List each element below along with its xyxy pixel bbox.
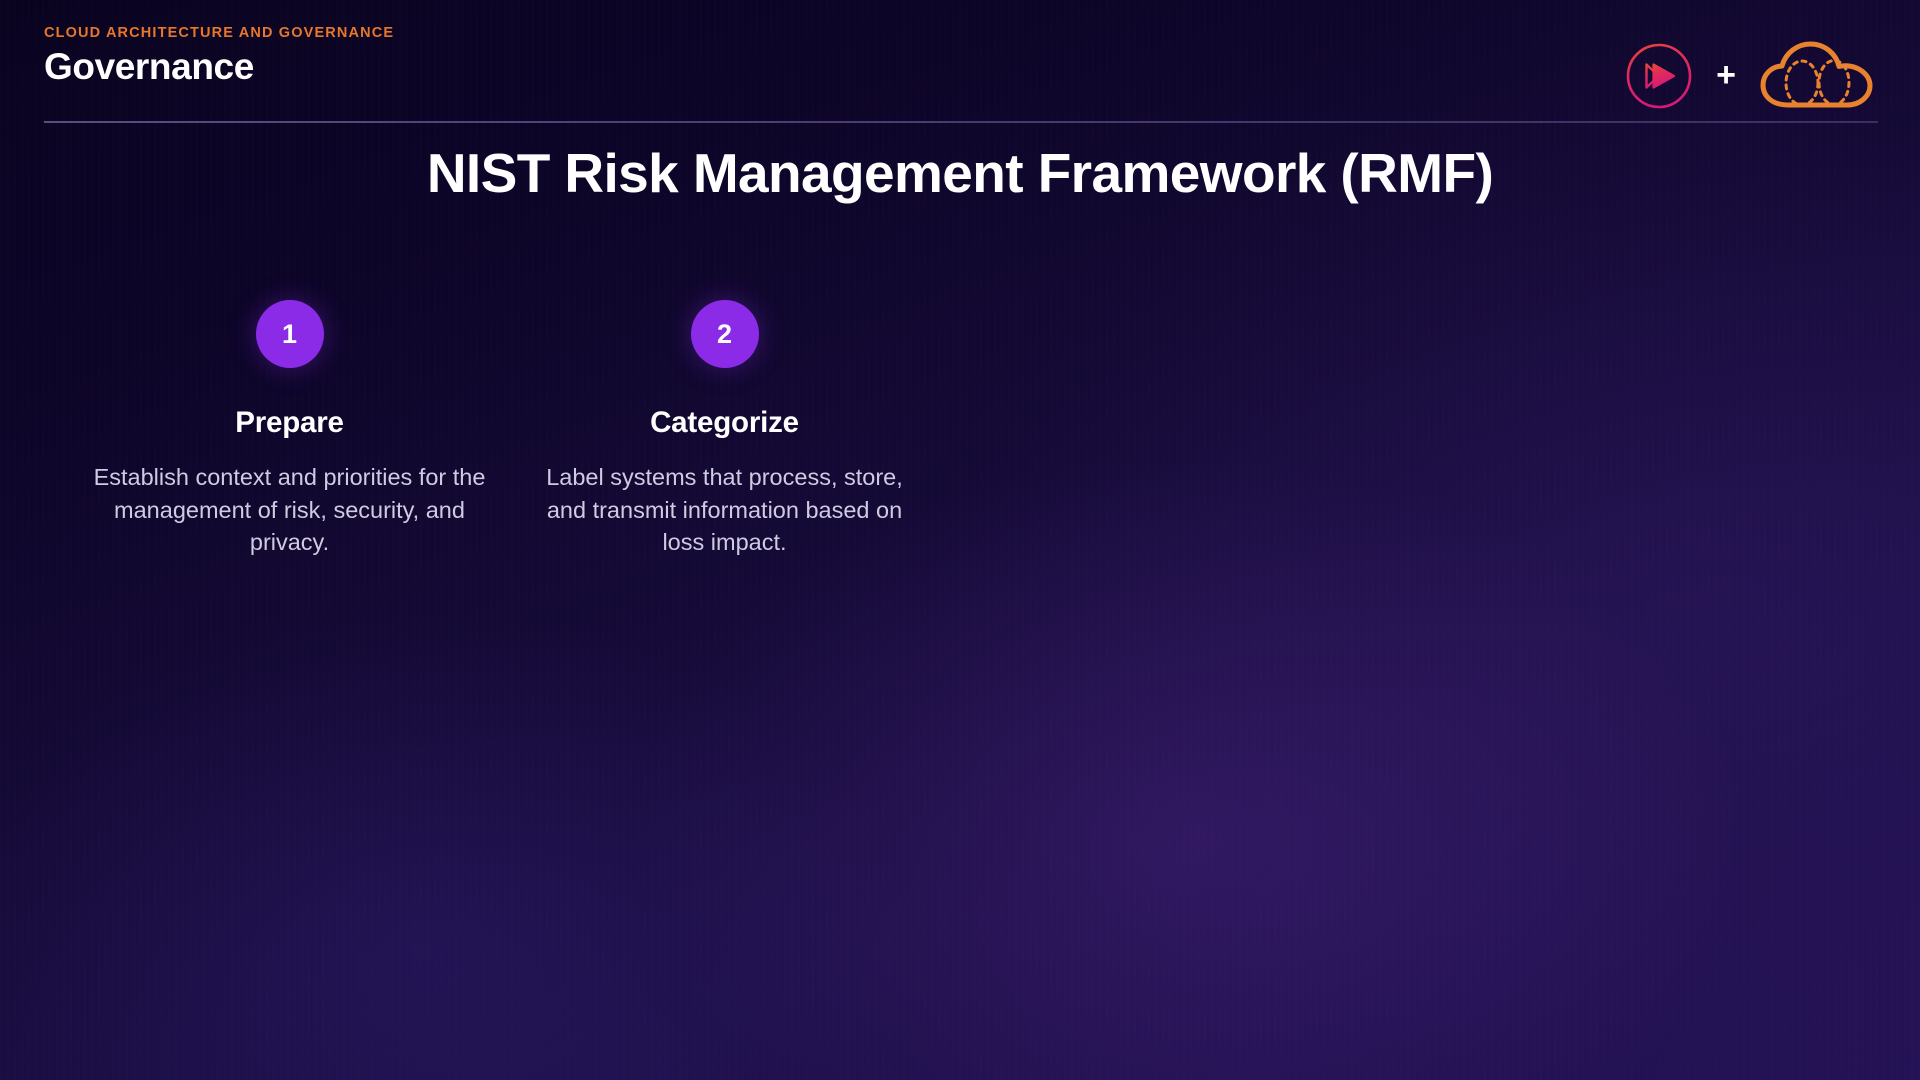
step-description: Establish context and priorities for the… [90, 461, 489, 558]
header-divider [44, 121, 1878, 123]
page-title: Governance [44, 46, 394, 89]
slide-root: CLOUD ARCHITECTURE AND GOVERNANCE Govern… [0, 0, 1920, 1080]
play-circle-logo-icon [1624, 41, 1694, 111]
rmf-steps-list: 1 Prepare Establish context and prioriti… [72, 300, 1848, 558]
step-description: Label systems that process, store, and t… [525, 461, 924, 558]
slide-header: CLOUD ARCHITECTURE AND GOVERNANCE Govern… [0, 0, 1920, 122]
logo-plus-separator: + [1716, 58, 1736, 92]
step-number-badge: 2 [691, 300, 759, 368]
header-title-block: CLOUD ARCHITECTURE AND GOVERNANCE Govern… [44, 26, 394, 89]
header-eyebrow: CLOUD ARCHITECTURE AND GOVERNANCE [44, 26, 394, 42]
step-number-badge: 1 [256, 300, 324, 368]
header-logo-group: + [1624, 40, 1876, 112]
main-heading: NIST Risk Management Framework (RMF) [0, 141, 1920, 206]
step-title: Prepare [235, 405, 343, 440]
rmf-step-categorize: 2 Categorize Label systems that process,… [507, 300, 942, 558]
rmf-step-prepare: 1 Prepare Establish context and prioriti… [72, 300, 507, 558]
cloud-logo-icon [1758, 40, 1876, 112]
step-title: Categorize [650, 405, 799, 440]
